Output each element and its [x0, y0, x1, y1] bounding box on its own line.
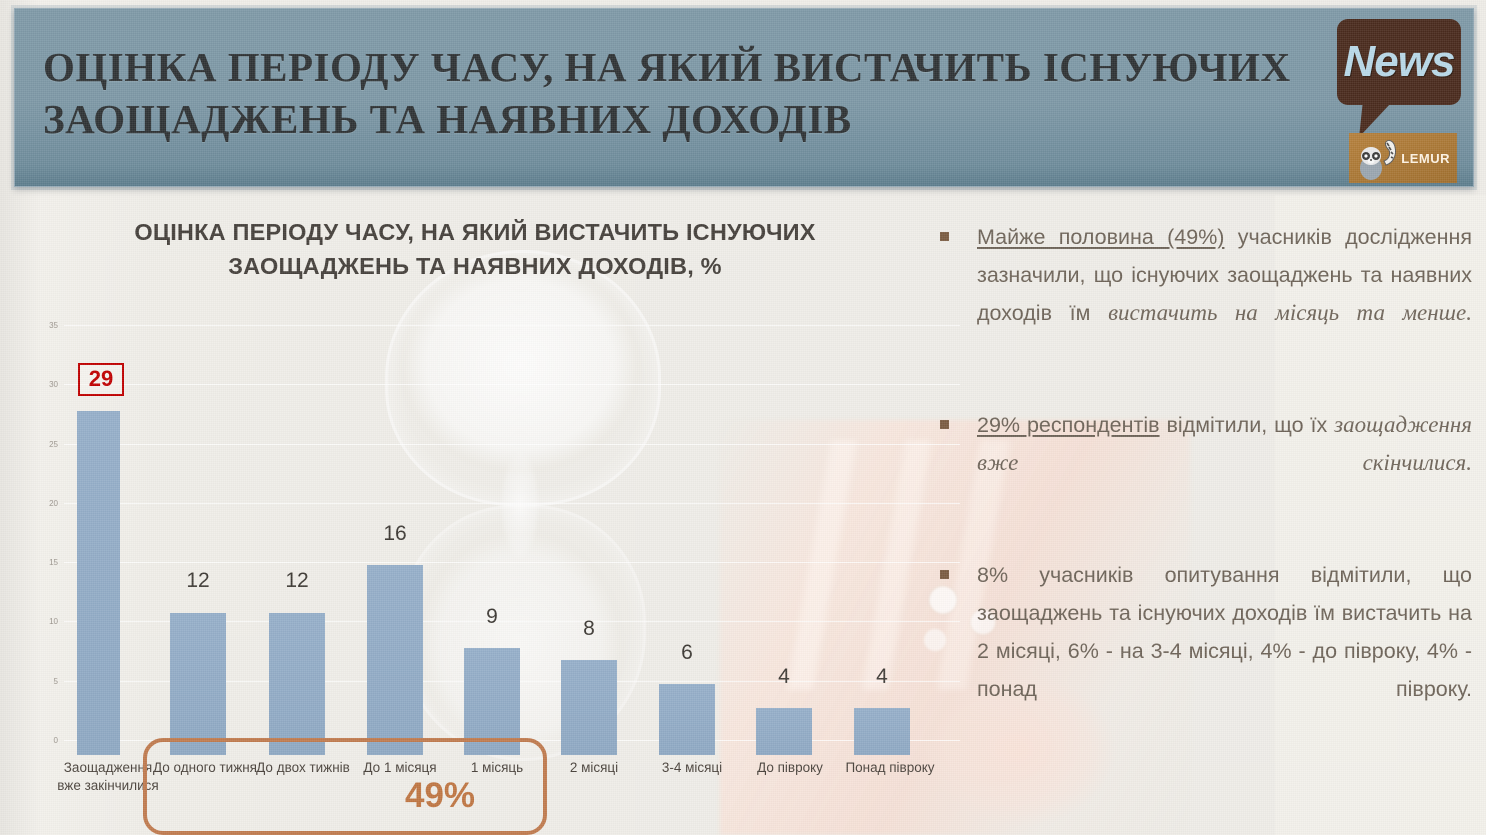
y-tick-30: 30: [30, 380, 58, 389]
bar-do-pivroku[interactable]: [756, 708, 812, 755]
bar-2-misyatsi[interactable]: [561, 660, 617, 755]
y-tick-15: 15: [30, 558, 58, 567]
bar-3-4-misyatsi[interactable]: [659, 684, 715, 755]
bar-do-dvoh-tyzhniv[interactable]: [269, 613, 325, 755]
highlight-percentage: 49%: [405, 776, 475, 816]
list-item: Майже половина (49%) учасників досліджен…: [932, 218, 1472, 370]
bar-label-3: 16: [360, 522, 430, 546]
insights-panel: Майже половина (49%) учасників досліджен…: [932, 218, 1472, 782]
gridline-20: [64, 503, 960, 504]
bar-label-6: 6: [652, 641, 722, 665]
bar-label-1: 12: [163, 569, 233, 593]
bar-do-1-misyatsya[interactable]: [367, 565, 423, 755]
bullet-1-seg-0: Майже половина (49%): [977, 225, 1224, 249]
slide-canvas: ОЦІНКА ПЕРІОДУ ЧАСУ, НА ЯКИЙ ВИСТАЧИТЬ І…: [0, 0, 1486, 835]
bar-label-0: 29: [78, 363, 124, 396]
y-tick-20: 20: [30, 499, 58, 508]
square-bullet-icon: [940, 570, 949, 579]
square-bullet-icon: [940, 232, 949, 241]
lemur-label: LEMUR: [1401, 151, 1457, 166]
bar-label-2: 12: [262, 569, 332, 593]
list-item: 8% учасників опитування відмітили, що за…: [932, 556, 1472, 746]
bar-label-4: 9: [457, 605, 527, 629]
y-tick-35: 35: [30, 321, 58, 330]
bullet-3-seg-0: 8% учасників опитування відмітили, що за…: [977, 563, 1472, 701]
lemur-badge: LEMUR: [1349, 133, 1457, 183]
square-bullet-icon: [940, 420, 949, 429]
bullet-2-seg-1: відмітили, що їх: [1160, 413, 1335, 437]
bar-do-odnogo-tyzhnya[interactable]: [170, 613, 226, 755]
news-lemur-logo[interactable]: News LEMUR: [1325, 13, 1463, 189]
speech-bubble-icon: News: [1337, 19, 1461, 105]
header-banner: ОЦІНКА ПЕРІОДУ ЧАСУ, НА ЯКИЙ ВИСТАЧИТЬ І…: [14, 8, 1474, 187]
y-tick-10: 10: [30, 617, 58, 626]
chart-title: ОЦІНКА ПЕРІОДУ ЧАСУ, НА ЯКИЙ ВИСТАЧИТЬ І…: [60, 215, 890, 283]
speech-bubble-tail-icon: [1359, 101, 1393, 137]
gridline-25: [64, 444, 960, 445]
y-tick-0: 0: [30, 736, 58, 745]
gridline-15: [64, 562, 960, 563]
y-tick-5: 5: [30, 677, 58, 686]
news-label: News: [1337, 19, 1461, 105]
gridline-35: [64, 325, 960, 326]
bullet-1-seg-3: .: [1466, 300, 1472, 325]
lemur-icon: [1353, 135, 1407, 181]
page-title: ОЦІНКА ПЕРІОДУ ЧАСУ, НА ЯКИЙ ВИСТАЧИТЬ І…: [43, 41, 1353, 145]
bar-label-8: 4: [847, 665, 917, 689]
bullet-1-seg-2: вистачить на місяць та менше: [1108, 300, 1466, 325]
highlight-rounded-rect: [143, 738, 547, 835]
list-item: 29% респондентів відмітили, що їх заощад…: [932, 406, 1472, 520]
bullet-2-seg-3: .: [1466, 450, 1472, 475]
x-label-6: 3-4 місяці: [636, 759, 748, 777]
bullet-2-seg-0: 29% респондентів: [977, 413, 1160, 437]
y-tick-25: 25: [30, 440, 58, 449]
x-label-5: 2 місяці: [539, 759, 649, 777]
bar-zaoschadzhennya-vzhe-zakinchylysya[interactable]: [77, 411, 120, 755]
bar-label-5: 8: [554, 617, 624, 641]
bar-ponad-pivroku[interactable]: [854, 708, 910, 755]
chart-plot-area: 0 5 10 15 20 25 30 35 29 12 12 16 9 8 6 …: [30, 325, 960, 755]
gridline-30: [64, 384, 960, 385]
bar-label-7: 4: [749, 665, 819, 689]
